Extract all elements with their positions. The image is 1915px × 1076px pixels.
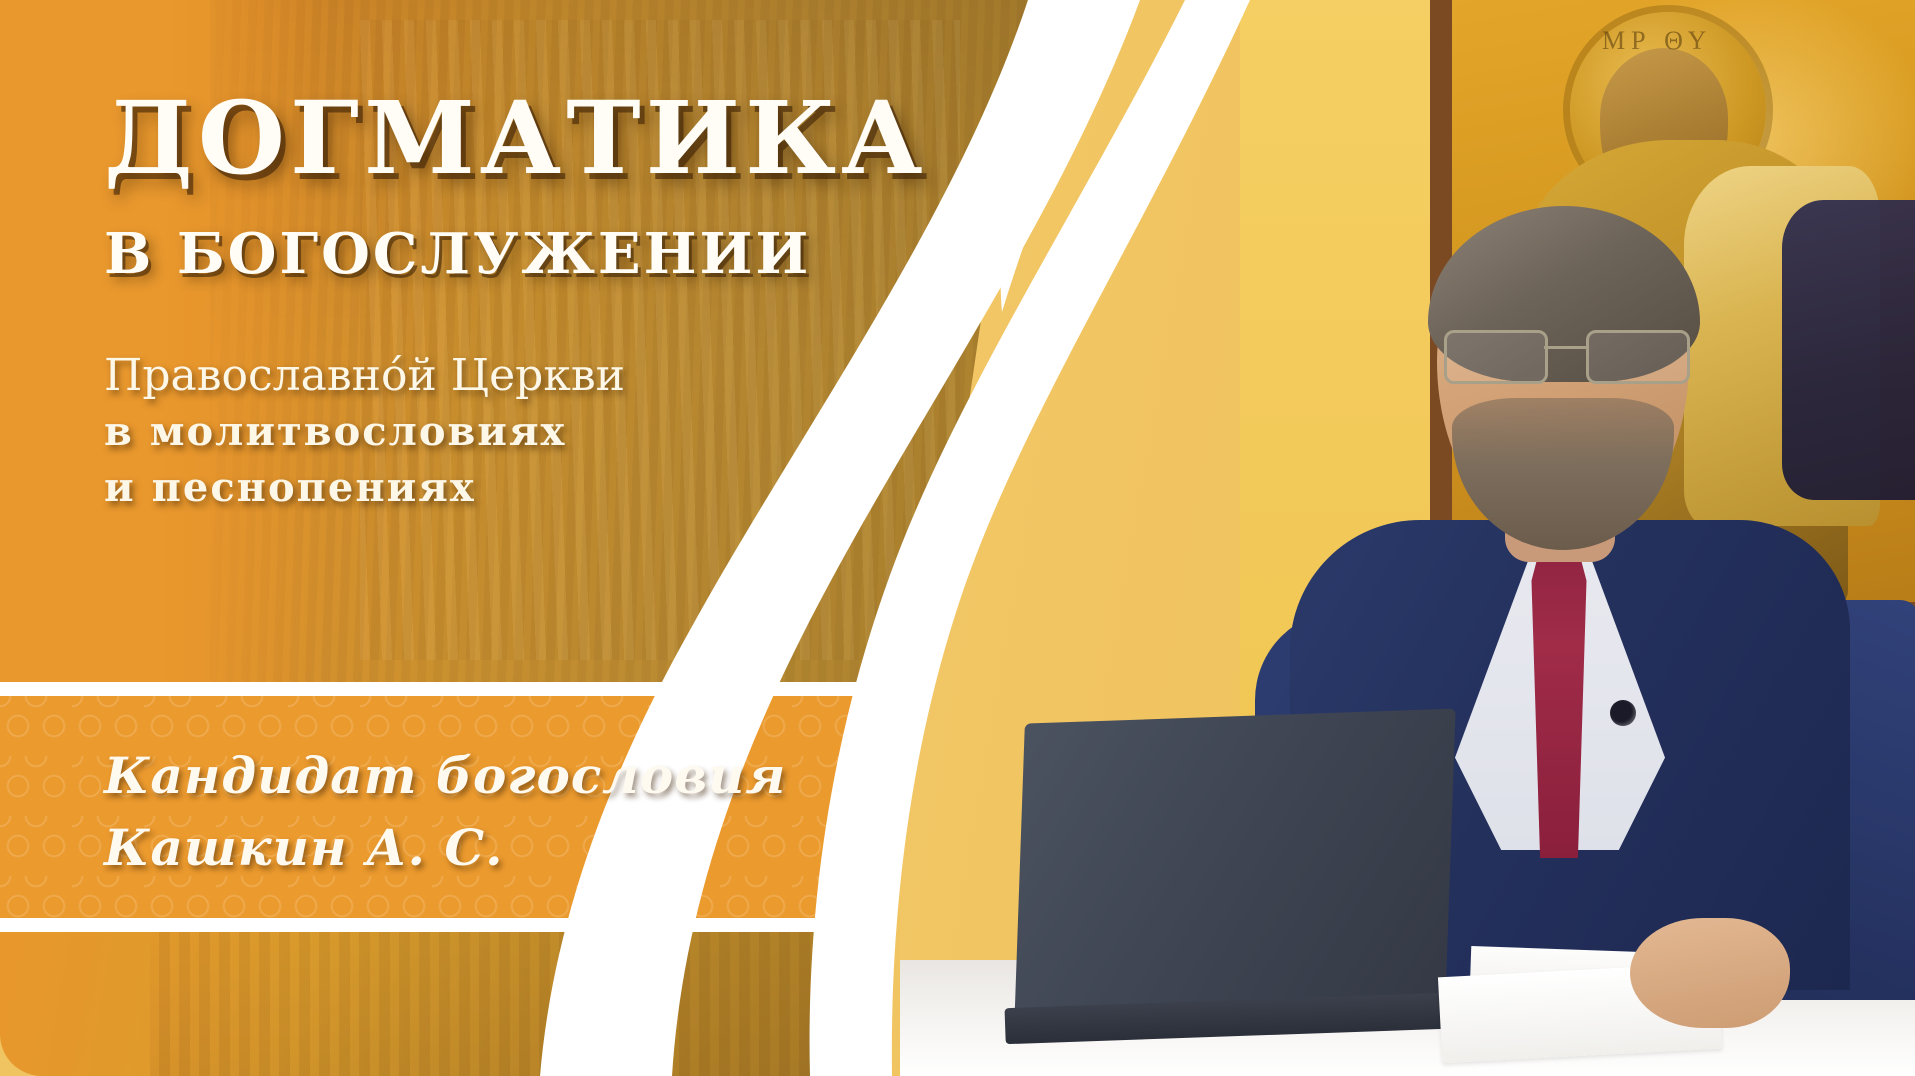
description-line: Православно́й Церкви: [104, 348, 864, 404]
description-block: Православно́й Церкви в молитвословиях и …: [104, 348, 864, 516]
hand: [1630, 918, 1790, 1028]
description-line: и песнопениях: [104, 460, 864, 516]
description-line: в молитвословиях: [104, 404, 864, 460]
author-credential: Кандидат богословия: [104, 740, 864, 812]
text-layer: ДОГМАТИКА В БОГОСЛУЖЕНИИ Православно́й Ц…: [0, 0, 1030, 1076]
lens-right: [1586, 330, 1690, 384]
lens-left: [1444, 330, 1548, 384]
page-subtitle: В БОГОСЛУЖЕНИИ: [104, 226, 811, 282]
page-title: ДОГМАТИКА: [104, 88, 928, 188]
lapel-microphone-icon: [1610, 700, 1636, 726]
author-block: Кандидат богословия Кашкин А. С.: [104, 740, 864, 884]
eyeglasses-icon: [1440, 330, 1690, 382]
laptop-screen: [1014, 709, 1455, 1024]
poster: МР ΘΥ: [0, 0, 1915, 1076]
glasses-bridge: [1544, 346, 1588, 349]
author-name: Кашкин А. С.: [104, 812, 864, 884]
